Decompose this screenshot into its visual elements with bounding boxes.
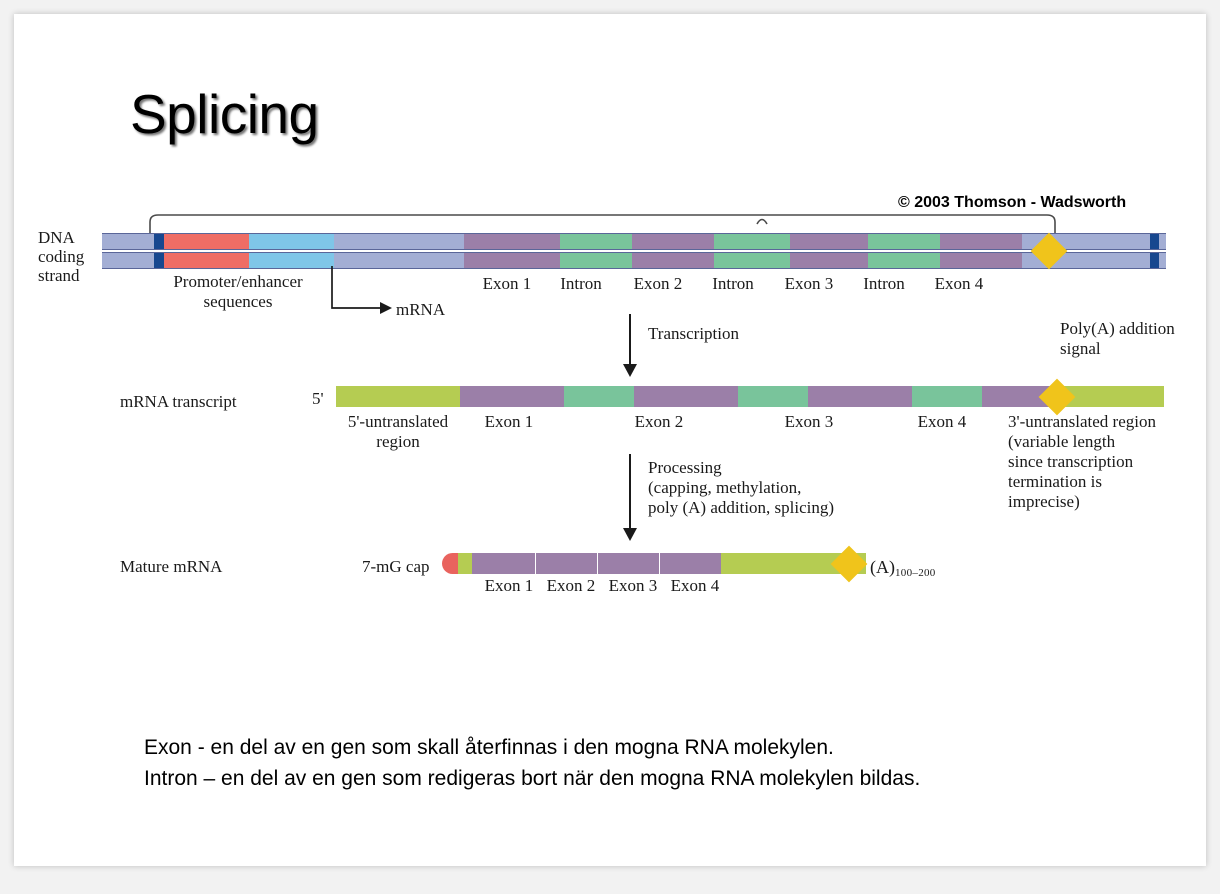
transcript-label-utr3: 3'-untranslated region (variable length … [1008,412,1156,512]
caption-line-exon: Exon - en del av en gen som skall återfi… [144,736,834,760]
dna-label-intron2: Intron [693,274,773,294]
transcript-seg-intron1 [564,386,634,407]
transcript-seg-utr5 [336,386,460,407]
polya-signal-diamond-transcript [1039,379,1076,416]
processing-line2: (capping, methylation, [648,478,834,498]
mature-cap-label: 7-mG cap [362,557,430,577]
dna-seg-intron3-lower [868,253,940,268]
utr3-label-line2: (variable length [1008,432,1156,452]
transcription-arrow-head [623,364,637,377]
dna-label-intron1: Intron [541,274,621,294]
transcript-seg-intron3 [912,386,982,407]
dna-seg-exon1-lower [464,253,560,268]
polya-tail-subscript: 100–200 [895,567,936,579]
dna-row-label-line3: strand [38,266,84,285]
caption-line-intron: Intron – en del av en gen som redigeras … [144,767,920,791]
slide-canvas: Splicing © 2003 Thomson - Wadsworth DNA … [14,14,1206,866]
transcript-label-exon2: Exon 2 [616,412,702,432]
dna-seg-flank-left-lower [102,253,154,268]
transcription-label: Transcription [648,324,739,344]
utr5-label-line2: region [332,432,464,452]
mrna-start-arrow [330,266,400,316]
dna-label-exon4: Exon 4 [917,274,1001,294]
dna-seg-flank-right-upper [1159,234,1166,249]
utr3-label-line4: termination is [1008,472,1156,492]
dna-seg-exon4-lower [940,253,1022,268]
dna-seg-intron2-lower [714,253,790,268]
dna-seg-exon1-upper [464,234,560,249]
transcript-seg-exon3 [808,386,912,407]
mature-seg-exon1 [472,553,535,574]
dna-seg-flank-right-lower [1159,253,1166,268]
dna-label-exon1: Exon 1 [464,274,550,294]
transcript-seg-exon2 [634,386,738,407]
dna-row-label-line1: DNA [38,228,84,247]
dna-seg-intron1-upper [560,234,632,249]
processing-line1: Processing [648,458,834,478]
utr5-label-line1: 5'-untranslated [332,412,464,432]
dna-seg-exon2-upper [632,234,714,249]
mature-row-label: Mature mRNA [120,557,222,577]
dna-seg-flank-left-upper [102,234,154,249]
dna-seg-end-marker-upper [1150,234,1159,249]
processing-line3: poly (A) addition, splicing) [648,498,834,518]
dna-seg-intron2-upper [714,234,790,249]
dna-seg-leader-upper [334,234,464,249]
dna-seg-exon4-upper [940,234,1022,249]
dna-row-label-line2: coding [38,247,84,266]
transcript-label-exon4: Exon 4 [899,412,985,432]
dna-seg-enhancer-upper [249,234,334,249]
mature-seg-utr5 [458,553,472,574]
transcript-label-exon3: Exon 3 [766,412,852,432]
transcript-seg-intron2 [738,386,808,407]
transcript-seg-exon1 [460,386,564,407]
dna-seg-exon3-upper [790,234,868,249]
transcript-label-utr5: 5'-untranslated region [332,412,464,452]
transcript-row-label: mRNA transcript [120,392,237,412]
polya-signal-diamond-mature [831,546,868,583]
dna-label-intron3: Intron [844,274,924,294]
dna-seg-intron1-lower [560,253,632,268]
dna-seg-intron3-upper [868,234,940,249]
utr3-label-line1: 3'-untranslated region [1008,412,1156,432]
polya-signal-line2: signal [1060,339,1175,359]
dna-seg-promoter-lower [164,253,249,268]
utr3-label-line5: imprecise) [1008,492,1156,512]
transcript-label-exon1: Exon 1 [466,412,552,432]
transcript-seg-utr3 [1064,386,1164,407]
mature-seg-exon2 [536,553,597,574]
dna-label-exon3: Exon 3 [767,274,851,294]
polya-tail-label: (A)100–200 [870,557,936,579]
polya-signal-line1: Poly(A) addition [1060,319,1175,339]
dna-seg-exon2-lower [632,253,714,268]
dna-seg-start-marker-upper [154,234,164,249]
dna-seg-enhancer-lower [249,253,334,268]
utr3-label-line3: since transcription [1008,452,1156,472]
dna-strand-lower [102,252,1166,269]
mature-mrna-bar [458,553,866,574]
processing-arrow-head [623,528,637,541]
mature-seg-exon4 [660,553,721,574]
polya-tail-prefix: (A) [870,557,895,577]
mature-seg-exon3 [598,553,659,574]
dna-row-label: DNA coding strand [38,228,84,285]
dna-label-exon2: Exon 2 [616,274,700,294]
processing-arrow-line [629,454,631,530]
dna-seg-end-marker-lower [1150,253,1159,268]
polya-addition-signal-label: Poly(A) addition signal [1060,319,1175,359]
dna-strand-upper [102,233,1166,250]
mature-label-exon4: Exon 4 [652,576,738,596]
dna-seg-start-marker-lower [154,253,164,268]
dna-seg-exon3-lower [790,253,868,268]
transcript-five-prime-label: 5' [312,389,324,409]
mrna-arrow-label: mRNA [396,300,445,320]
dna-seg-promoter-upper [164,234,249,249]
transcription-arrow-line [629,314,631,366]
processing-label: Processing (capping, methylation, poly (… [648,458,834,518]
